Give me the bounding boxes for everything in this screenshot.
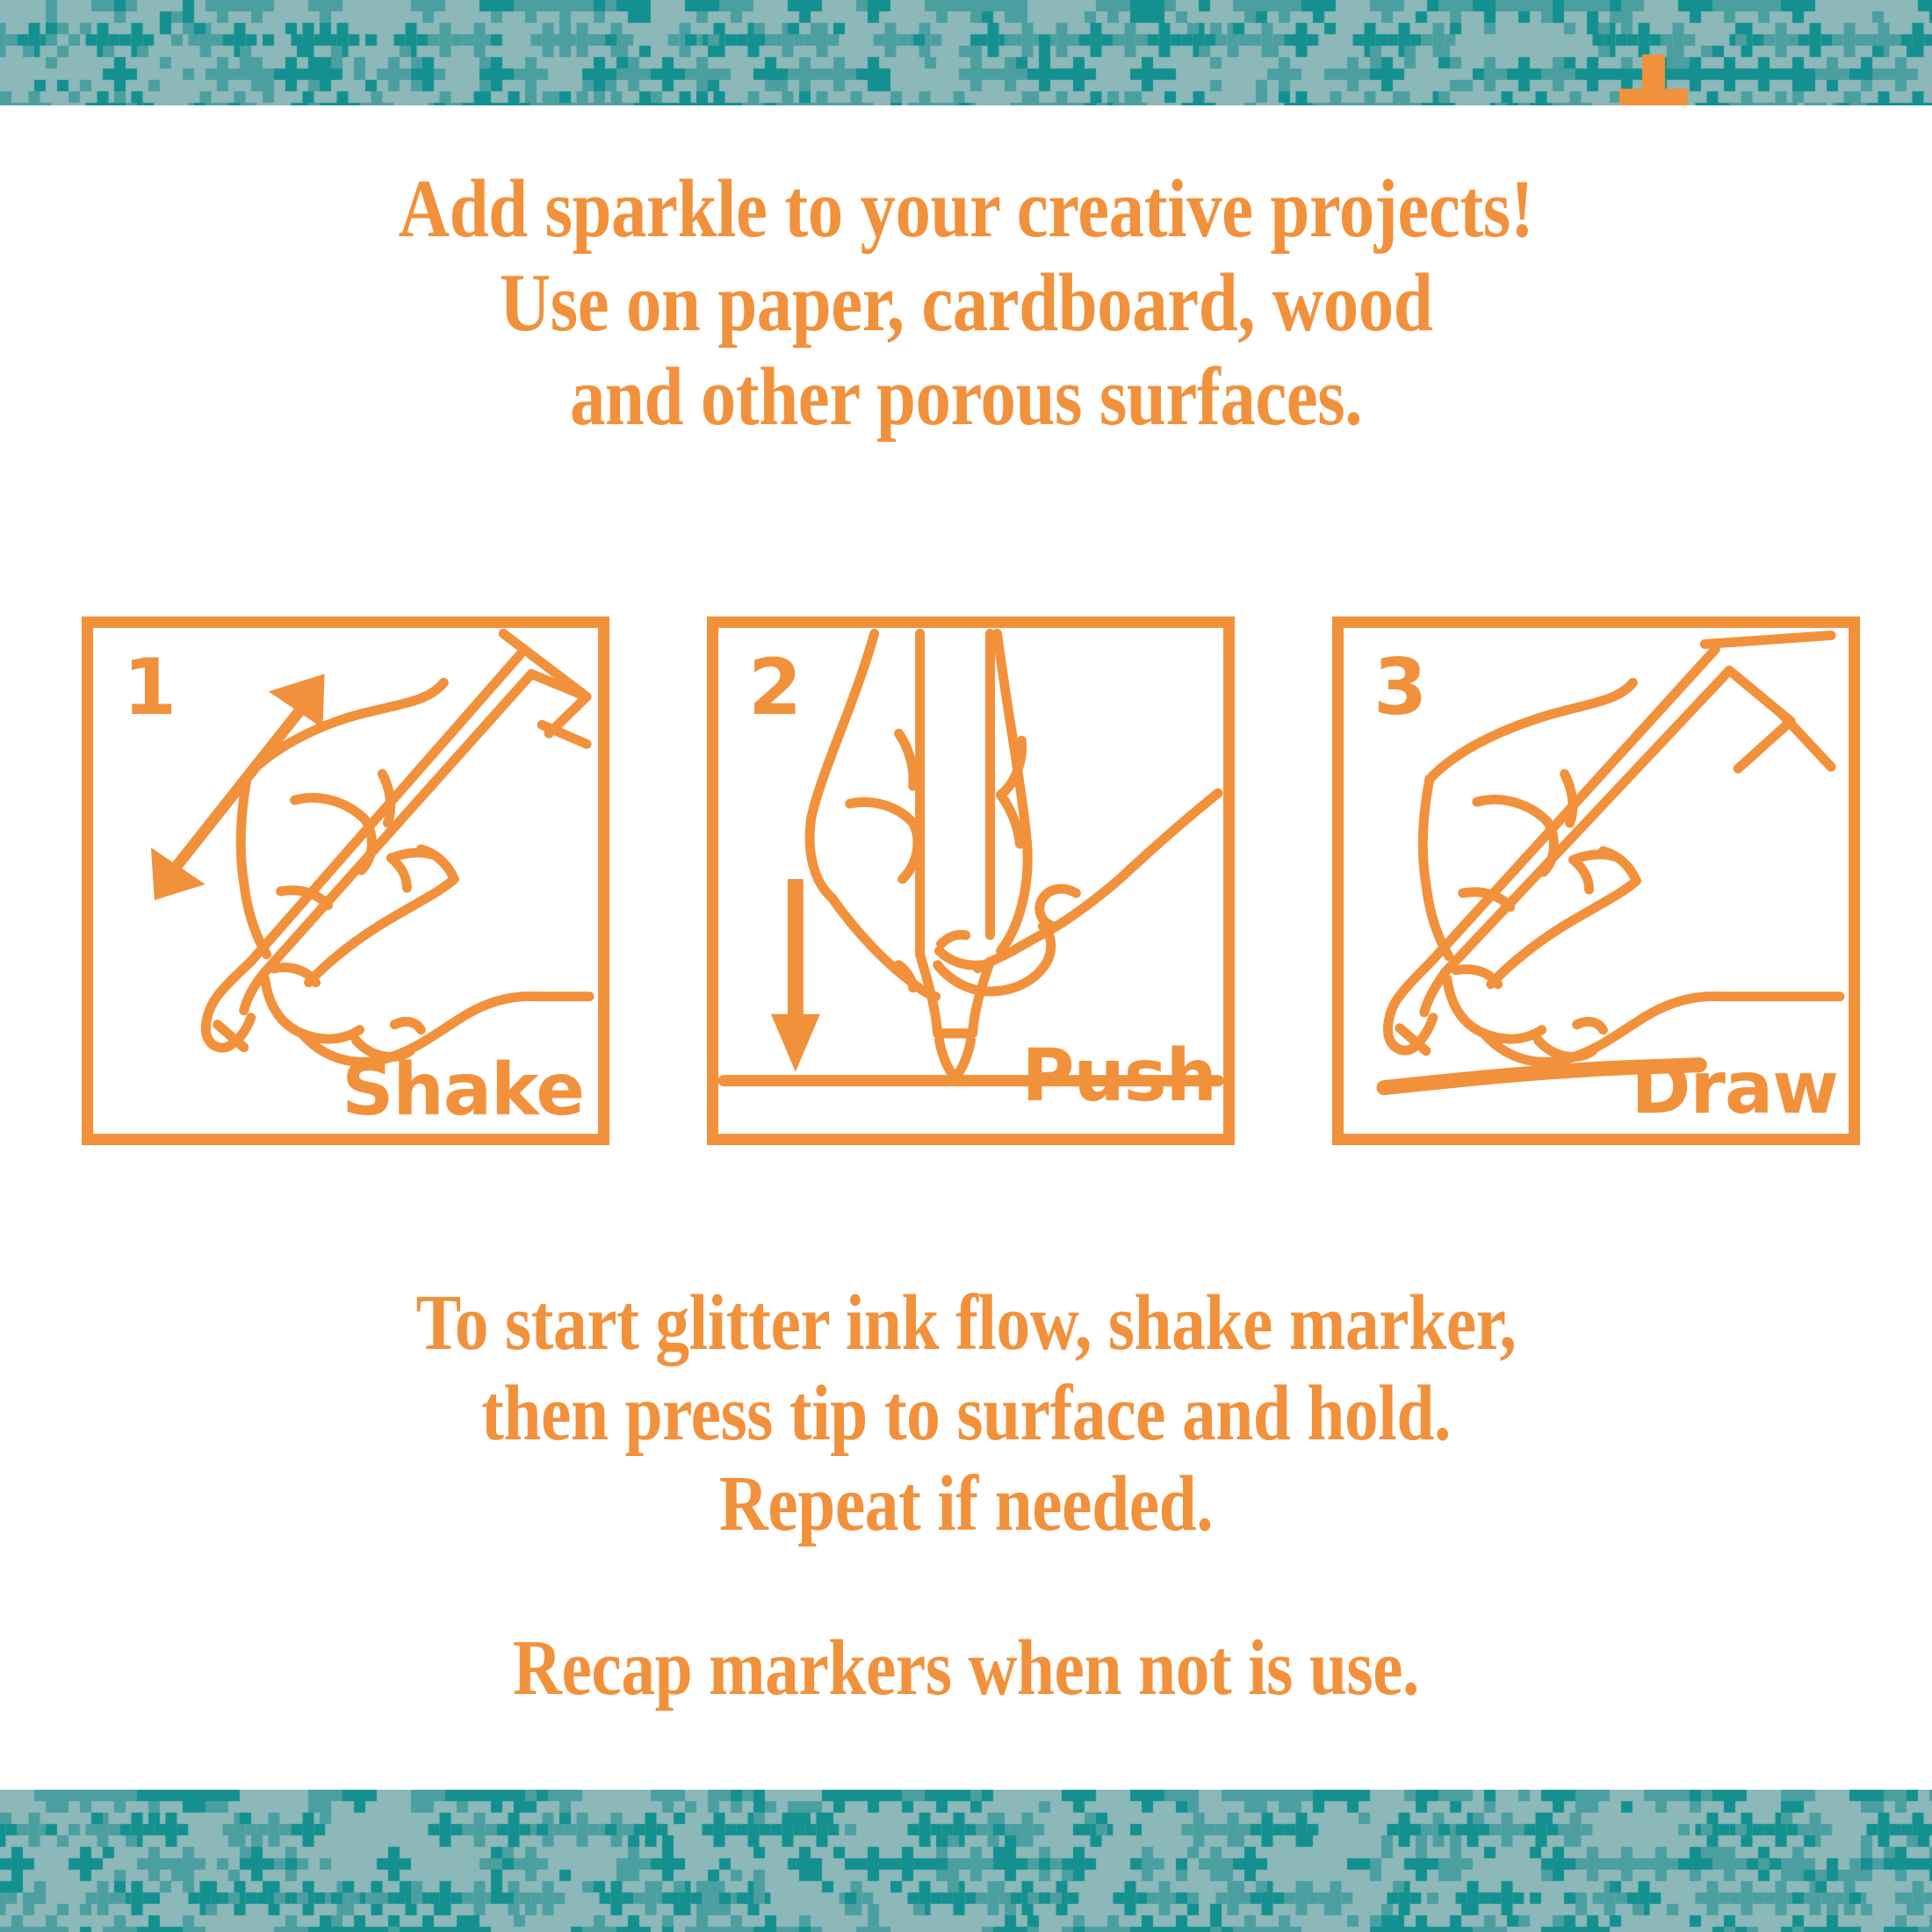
headline-line-2: Use on paper, cardboard, wood <box>135 256 1797 350</box>
pattern-canvas-top <box>0 0 1932 105</box>
body-line-3: Repeat if needed. <box>135 1459 1797 1549</box>
step-number-2: 2 <box>748 649 802 726</box>
headline-line-3: and other porous surfaces. <box>135 350 1797 444</box>
step-number-3: 3 <box>1373 649 1427 726</box>
step-number-1: 1 <box>123 649 177 726</box>
bottom-pattern-band <box>0 1790 1932 1932</box>
step-panel-2: 2 Push <box>707 616 1235 1145</box>
body-line-2: then press tip to surface and hold. <box>135 1368 1797 1459</box>
step-panel-3: 3 Draw <box>1332 616 1860 1145</box>
footer-line-1: Recap markers when not is use. <box>135 1623 1797 1713</box>
page-title: Add sparkle to your creative projects! U… <box>0 162 1932 444</box>
footer-text: Recap markers when not is use. <box>0 1623 1932 1713</box>
step-panels: 1 Shake <box>82 616 1860 1145</box>
step-label-1: Shake <box>342 1055 584 1127</box>
step-label-3: Draw <box>1631 1053 1838 1125</box>
instruction-card: Add sparkle to your creative projects! U… <box>0 0 1932 1932</box>
step-panel-1: 1 Shake <box>82 616 609 1145</box>
body-line-1: To start glitter ink flow, shake marker, <box>135 1278 1797 1368</box>
headline-line-1: Add sparkle to your creative projects! <box>135 162 1797 256</box>
top-pattern-band <box>0 0 1932 105</box>
step-label-2: Push <box>1021 1041 1216 1113</box>
instructions-text: To start glitter ink flow, shake marker,… <box>0 1278 1932 1549</box>
pattern-canvas-bottom <box>0 1790 1932 1932</box>
